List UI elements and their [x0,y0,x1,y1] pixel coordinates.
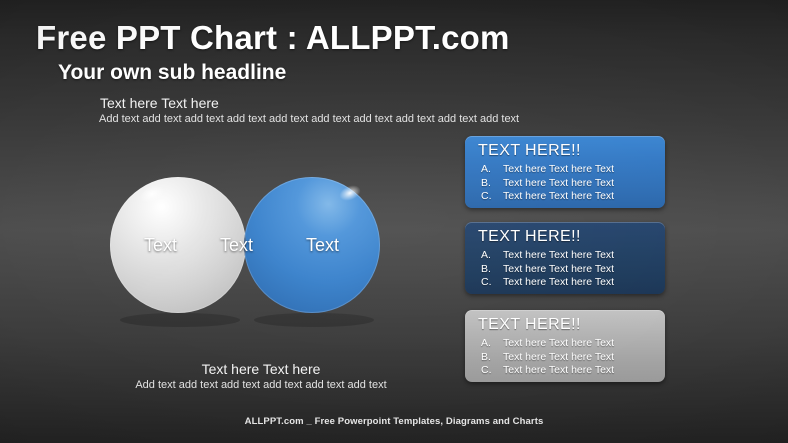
list-item-label: Text here Text here Text [503,163,614,177]
list-item-label: Text here Text here Text [503,364,614,378]
text-box-gray[interactable]: TEXT HERE!! A. Text here Text here Text … [465,310,665,382]
list-item-marker: C. [481,276,503,290]
list-item[interactable]: C. Text here Text here Text [481,364,614,378]
list-item[interactable]: B. Text here Text here Text [481,351,614,365]
text-box-blue-list: A. Text here Text here Text B. Text here… [481,163,614,204]
text-box-navy-list: A. Text here Text here Text B. Text here… [481,249,614,290]
list-item-label: Text here Text here Text [503,351,614,365]
list-item-label: Text here Text here Text [503,190,614,204]
list-item[interactable]: A. Text here Text here Text [481,249,614,263]
text-box-blue-title: TEXT HERE!! [478,142,581,160]
top-caption-block: Text here Text here Add text add text ad… [99,95,639,125]
list-item[interactable]: C. Text here Text here Text [481,276,614,290]
list-item-marker: C. [481,190,503,204]
bottom-caption-body: Add text add text add text add text add … [103,379,419,391]
text-box-navy[interactable]: TEXT HERE!! A. Text here Text here Text … [465,222,665,294]
list-item-label: Text here Text here Text [503,337,614,351]
list-item[interactable]: C. Text here Text here Text [481,190,614,204]
list-item-marker: B. [481,263,503,277]
list-item-marker: B. [481,351,503,365]
list-item-marker: A. [481,163,503,177]
text-box-gray-list: A. Text here Text here Text B. Text here… [481,337,614,378]
venn-svg [110,158,390,333]
list-item[interactable]: A. Text here Text here Text [481,163,614,177]
list-item[interactable]: A. Text here Text here Text [481,337,614,351]
top-caption-heading: Text here Text here [100,95,639,111]
list-item-label: Text here Text here Text [503,249,614,263]
top-caption-body: Add text add text add text add text add … [99,113,639,125]
footer-credit: ALLPPT.com _ Free Powerpoint Templates, … [0,416,788,427]
list-item-label: Text here Text here Text [503,263,614,277]
list-item-marker: A. [481,337,503,351]
text-box-blue[interactable]: TEXT HERE!! A. Text here Text here Text … [465,136,665,208]
list-item-label: Text here Text here Text [503,276,614,290]
page-title: Free PPT Chart : ALLPPT.com [36,19,510,57]
list-item-marker: C. [481,364,503,378]
page-subtitle: Your own sub headline [58,61,286,85]
list-item-marker: A. [481,249,503,263]
slide-canvas: Free PPT Chart : ALLPPT.com Your own sub… [0,0,788,443]
bottom-caption-block: Text here Text here Add text add text ad… [103,361,419,391]
list-item-marker: B. [481,177,503,191]
text-box-gray-title: TEXT HERE!! [478,316,581,334]
bottom-caption-heading: Text here Text here [103,361,419,377]
list-item[interactable]: B. Text here Text here Text [481,177,614,191]
list-item-label: Text here Text here Text [503,177,614,191]
venn-diagram: Text Text Text [110,158,390,333]
text-box-navy-title: TEXT HERE!! [478,228,581,246]
list-item[interactable]: B. Text here Text here Text [481,263,614,277]
